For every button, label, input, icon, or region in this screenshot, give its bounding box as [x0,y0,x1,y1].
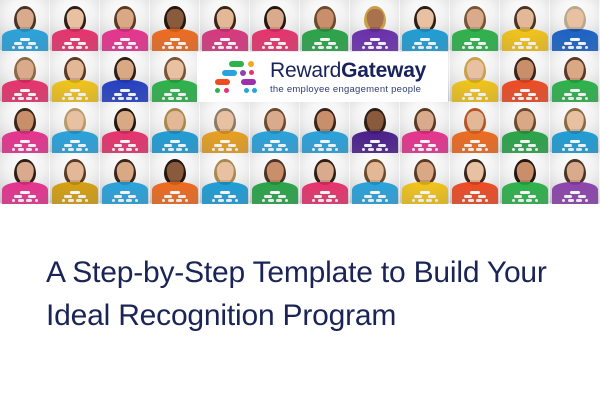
photo-tshirt [402,131,448,153]
photo-tshirt [52,131,98,153]
page-title: A Step-by-Step Template to Build Your Id… [46,252,554,337]
photo-tshirt [302,182,348,204]
employee-photo [300,0,350,51]
employee-photo [250,0,300,51]
employee-photo [100,51,150,102]
tshirt-logo-mark [12,191,38,204]
photo-tshirt [452,29,498,51]
tshirt-logo-mark [412,140,438,153]
photo-tshirt [352,131,398,153]
tshirt-logo-mark [462,191,488,204]
employee-photo [150,102,200,153]
employee-photo [550,102,600,153]
employee-photo [350,153,400,204]
photo-tshirt [152,29,198,51]
employee-photo [50,102,100,153]
employee-photo [150,153,200,204]
tshirt-logo-mark [512,38,538,51]
tshirt-logo-mark [562,191,588,204]
employee-photo [500,51,550,102]
employee-photo [150,0,200,51]
tshirt-logo-mark [12,140,38,153]
tshirt-logo-mark [462,89,488,102]
tshirt-logo-mark [62,191,88,204]
photo-tshirt [402,29,448,51]
logo-text-block: RewardGateway the employee engagement pe… [270,60,426,95]
tshirt-logo-mark [562,38,588,51]
logo-word-reward: Reward [270,59,341,82]
employee-photo [450,153,500,204]
photo-tshirt [502,131,548,153]
employee-photo [50,51,100,102]
photo-tshirt [402,182,448,204]
employee-photo [0,102,50,153]
photo-tshirt [452,131,498,153]
employee-photo [450,102,500,153]
photo-tshirt [352,29,398,51]
employee-photo [150,51,200,102]
tshirt-logo-mark [12,38,38,51]
employee-photo [550,0,600,51]
tshirt-logo-mark [262,140,288,153]
employee-photo [550,51,600,102]
employee-photo [500,153,550,204]
employee-photo [50,0,100,51]
tshirt-logo-mark [312,38,338,51]
reward-gateway-logo-mark [215,61,259,93]
employee-photo [250,153,300,204]
employee-photo [100,153,150,204]
tshirt-logo-mark [462,38,488,51]
employee-photo [200,102,250,153]
tshirt-logo-mark [112,191,138,204]
tshirt-logo-mark [12,89,38,102]
employee-photo [450,0,500,51]
tshirt-logo-mark [362,140,388,153]
photo-tshirt [2,131,48,153]
employee-photo [500,102,550,153]
tshirt-logo-mark [212,38,238,51]
photo-tshirt [152,80,198,102]
photo-tshirt [552,29,598,51]
photo-tshirt [352,182,398,204]
employee-photo [0,51,50,102]
tshirt-logo-mark [212,191,238,204]
employee-photo [550,153,600,204]
employee-photo [250,102,300,153]
logo-word-gateway: Gateway [341,59,426,82]
tshirt-logo-mark [512,89,538,102]
tshirt-logo-mark [562,89,588,102]
logo-tagline: the employee engagement people [270,85,426,95]
photo-tshirt [52,182,98,204]
tshirt-logo-mark [112,140,138,153]
tshirt-logo-mark [62,89,88,102]
tshirt-logo-mark [162,89,188,102]
photo-tshirt [52,80,98,102]
photo-tshirt [302,29,348,51]
photo-tshirt [552,80,598,102]
photo-tshirt [252,29,298,51]
photo-tshirt [102,80,148,102]
tshirt-logo-mark [512,191,538,204]
photo-tshirt [202,29,248,51]
tshirt-logo-mark [162,38,188,51]
employee-photo [350,0,400,51]
photo-tshirt [552,131,598,153]
tshirt-logo-mark [412,191,438,204]
tshirt-logo-mark [212,140,238,153]
photo-tshirt [552,182,598,204]
tshirt-logo-mark [462,140,488,153]
employee-photo [200,0,250,51]
logo-wordmark: RewardGateway [270,60,426,81]
employee-photo-grid [0,0,600,204]
photo-tshirt [102,182,148,204]
photo-tshirt [452,80,498,102]
content-area: A Step-by-Step Template to Build Your Id… [0,204,600,337]
photo-tshirt [152,182,198,204]
tshirt-logo-mark [262,38,288,51]
photo-tshirt [2,29,48,51]
tshirt-logo-mark [362,38,388,51]
tshirt-logo-mark [312,191,338,204]
employee-photo [50,153,100,204]
employee-photo [200,153,250,204]
employee-photo [400,102,450,153]
tshirt-logo-mark [362,191,388,204]
tshirt-logo-mark [162,191,188,204]
employee-photo [100,102,150,153]
tshirt-logo-mark [412,38,438,51]
photo-tshirt [252,131,298,153]
tshirt-logo-mark [62,140,88,153]
photo-tshirt [502,80,548,102]
tshirt-logo-mark [562,140,588,153]
photo-tshirt [452,182,498,204]
photo-tshirt [502,182,548,204]
photo-tshirt [302,131,348,153]
photo-tshirt [102,131,148,153]
employee-photo [0,0,50,51]
employee-photo [450,51,500,102]
employee-photo [400,153,450,204]
photo-tshirt [152,131,198,153]
reward-gateway-logo[interactable]: RewardGateway the employee engagement pe… [197,52,448,102]
tshirt-logo-mark [112,38,138,51]
employee-photo [350,102,400,153]
tshirt-logo-mark [262,191,288,204]
photo-tshirt [2,80,48,102]
photo-tshirt [202,131,248,153]
photo-tshirt [102,29,148,51]
tshirt-logo-mark [162,140,188,153]
employee-photo [500,0,550,51]
employee-photo [300,153,350,204]
photo-tshirt [2,182,48,204]
tshirt-logo-mark [512,140,538,153]
photo-tshirt [252,182,298,204]
tshirt-logo-mark [312,140,338,153]
photo-tshirt [52,29,98,51]
employee-photo [0,153,50,204]
photo-tshirt [202,182,248,204]
employee-photo [100,0,150,51]
tshirt-logo-mark [62,38,88,51]
hero-photo-banner: RewardGateway the employee engagement pe… [0,0,600,204]
tshirt-logo-mark [112,89,138,102]
employee-photo [300,102,350,153]
employee-photo [400,0,450,51]
photo-tshirt [502,29,548,51]
